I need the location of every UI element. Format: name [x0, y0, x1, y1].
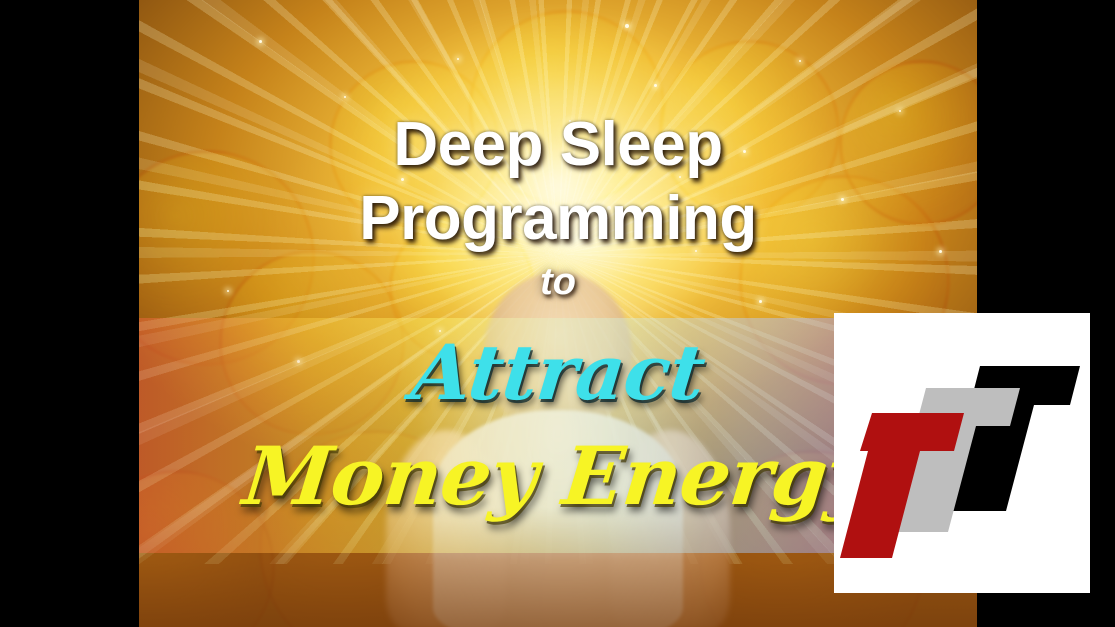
subject-head	[484, 272, 632, 432]
ttt-logo-card[interactable]	[834, 313, 1090, 593]
screenshot-canvas: Deep Sleep Programming to Attract Money …	[0, 0, 1115, 627]
ttt-logo-icon	[834, 313, 1090, 593]
letterbox-bar-left	[0, 0, 139, 627]
